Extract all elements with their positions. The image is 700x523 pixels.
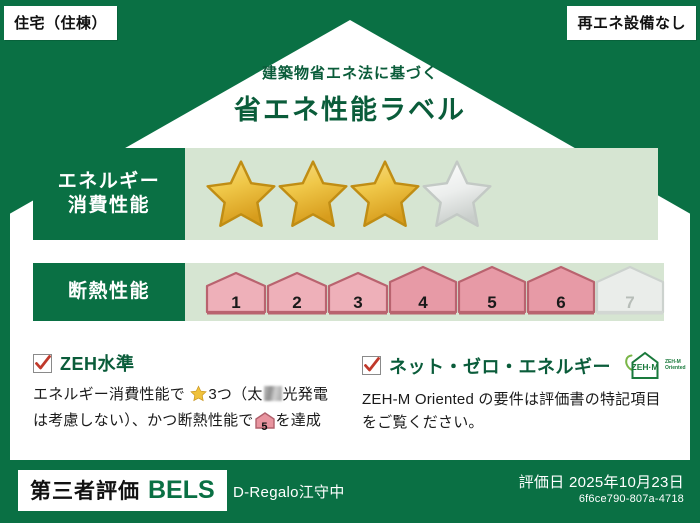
zeh-standard-header: ZEH水準 — [33, 350, 353, 376]
evaluation-id: 6f6ce790-807a-4718 — [579, 493, 684, 505]
insulation-level-number: 4 — [388, 294, 458, 311]
net-zero-energy-description: ZEH-M Oriented の要件は評価書の特記項目をご覧ください。 — [362, 389, 662, 435]
insulation-level-number: 5 — [457, 294, 527, 311]
evaluation-date: 評価日 2025年10月23日 — [519, 471, 684, 492]
third-party-eval-label: 第三者評価 — [30, 475, 140, 505]
label-title-block: 建築物省エネ法に基づく 省エネ性能ラベル — [0, 62, 700, 127]
inline-insulation-level-icon: 5 — [255, 412, 275, 437]
rating-label-energy-line1: エネルギー — [58, 170, 161, 194]
zeh-desc-part3: 光発電 — [283, 386, 329, 403]
insulation-level-chip-filled: 2 — [266, 271, 328, 315]
rating-label-energy: エネルギー 消費性能 — [33, 148, 185, 240]
zeh-desc-part5: を達成 — [276, 412, 322, 429]
building-name: D-Regalo江守中 — [233, 481, 345, 502]
zeh-m-logo: ZEH·M ZEH-M Oriented — [623, 350, 686, 381]
insulation-level-chip-empty: 7 — [595, 265, 665, 315]
star-rating-track — [185, 148, 658, 240]
net-zero-energy-header: ネット・ゼロ・エネルギー ZEH·M ZEH-M Oriented — [362, 350, 662, 381]
label-subtitle: 建築物省エネ法に基づく — [0, 62, 700, 83]
insulation-level-chip-filled: 4 — [388, 265, 458, 315]
checkbox-checked-icon — [33, 354, 52, 373]
label-title: 省エネ性能ラベル — [0, 88, 700, 127]
rating-label-insulation: 断熱性能 — [33, 263, 185, 321]
badge-renewable-equipment: 再エネ設備なし — [567, 6, 696, 40]
net-zero-energy-title: ネット・ゼロ・エネルギー — [389, 353, 611, 379]
zeh-standard-title: ZEH水準 — [60, 350, 135, 376]
zeh-desc-part2: 3つ（太 — [208, 386, 262, 403]
insulation-level-chip-filled: 6 — [526, 265, 596, 315]
energy-performance-label-card: 住宅（住棟） 再エネ設備なし 建築物省エネ法に基づく 省エネ性能ラベル エネルギ… — [0, 0, 700, 523]
inline-star-icon — [186, 389, 207, 406]
bels-certification-badge: 第三者評価 BELS — [18, 470, 227, 511]
insulation-level-number: 2 — [266, 294, 328, 311]
zeh-m-logo-sub2: Oriented — [665, 366, 686, 371]
rating-row-energy: エネルギー 消費性能 — [33, 148, 658, 240]
insulation-level-number: 7 — [595, 294, 665, 311]
bels-mark: BELS — [148, 476, 215, 505]
star-filled-icon — [275, 157, 351, 231]
star-filled-icon — [347, 157, 423, 231]
zeh-desc-part1: エネルギー消費性能で — [33, 386, 185, 403]
zeh-standard-claim: ZEH水準 エネルギー消費性能で 3つ（太光発電 は考慮しない）、かつ断熱性能で… — [33, 350, 353, 437]
star-empty-icon — [419, 157, 495, 231]
zeh-desc-part4: は考慮しない）、かつ断熱性能で — [33, 412, 254, 429]
insulation-level-chip-filled: 1 — [205, 271, 267, 315]
insulation-level-chip-filled: 3 — [327, 271, 389, 315]
insulation-level-chip-filled: 5 — [457, 265, 527, 315]
inline-insulation-level-number: 5 — [255, 412, 275, 437]
insulation-level-track: 1234567 — [185, 263, 664, 321]
svg-text:ZEH·M: ZEH·M — [632, 362, 659, 372]
checkbox-checked-icon — [362, 356, 381, 375]
insulation-level-number: 1 — [205, 294, 267, 311]
zeh-standard-description: エネルギー消費性能で 3つ（太光発電 は考慮しない）、かつ断熱性能で 5 を達成 — [33, 384, 353, 437]
star-filled-icon — [203, 157, 279, 231]
rating-label-energy-line2: 消費性能 — [68, 194, 150, 218]
net-zero-energy-claim: ネット・ゼロ・エネルギー ZEH·M ZEH-M Oriented ZEH-M … — [362, 350, 662, 435]
rating-row-insulation: 断熱性能 1234567 — [33, 263, 658, 321]
label-footer-bar: 第三者評価 BELS D-Regalo江守中 評価日 2025年10月23日 6… — [0, 460, 700, 523]
rating-label-insulation-line1: 断熱性能 — [68, 280, 150, 304]
redacted-text-block — [264, 386, 282, 401]
insulation-level-number: 3 — [327, 294, 389, 311]
insulation-level-number: 6 — [526, 294, 596, 311]
badge-building-type: 住宅（住棟） — [4, 6, 117, 40]
